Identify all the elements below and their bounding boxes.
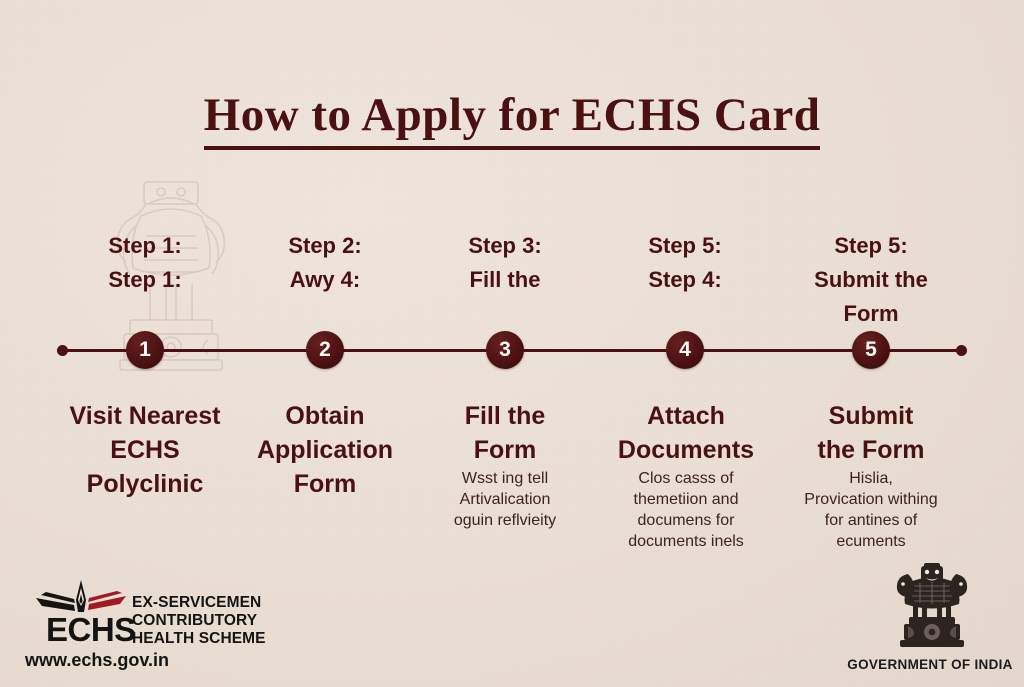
step-block-2: Obtain Application Form xyxy=(235,399,415,502)
page-title-text: How to Apply for ECHS Card xyxy=(204,88,821,150)
timeline-end-dot-right xyxy=(956,345,967,356)
step-pre-text-3: Step 3: Fill the xyxy=(415,229,595,297)
step-pre-label-5: Step 5: Submit the Form xyxy=(781,229,961,331)
step-block-3: Fill the Form Wsst ing tell Artivalicati… xyxy=(415,399,595,531)
echs-logo: ECHS EX-SERVICEMEN CONTRIBUTORY HEALTH S… xyxy=(24,578,284,678)
echs-wordmark: ECHS xyxy=(46,611,136,649)
step-heading-4: Attach Documents xyxy=(596,399,776,467)
timeline-node-2[interactable]: 2 xyxy=(306,331,344,369)
step-heading-1: Visit Nearest ECHS Polyclinic xyxy=(55,399,235,501)
step-body-5: Hislia, Provication withing for antines … xyxy=(781,468,961,552)
step-pre-text-1: Step 1: Step 1: xyxy=(55,229,235,297)
ashoka-emblem-icon xyxy=(884,560,980,652)
step-pre-label-1: Step 1: Step 1: xyxy=(55,229,235,297)
timeline-node-4[interactable]: 4 xyxy=(666,331,704,369)
step-heading-3: Fill the Form xyxy=(415,399,595,467)
step-body-3: Wsst ing tell Artivalication oguin reflv… xyxy=(415,468,595,531)
step-pre-label-3: Step 3: Fill the xyxy=(415,229,595,297)
government-of-india-label: GOVERNMENT OF INDIA xyxy=(840,657,1020,672)
timeline-node-5[interactable]: 5 xyxy=(852,331,890,369)
step-pre-label-4: Step 5: Step 4: xyxy=(595,229,775,297)
step-block-5: Submit the Form Hislia, Provication with… xyxy=(781,399,961,552)
step-pre-label-2: Step 2: Awy 4: xyxy=(235,229,415,297)
step-heading-2: Obtain Application Form xyxy=(235,399,415,501)
page-title: How to Apply for ECHS Card xyxy=(0,88,1024,150)
step-pre-text-2: Step 2: Awy 4: xyxy=(235,229,415,297)
step-pre-text-4: Step 5: Step 4: xyxy=(595,229,775,297)
timeline: 1 2 3 4 5 xyxy=(0,340,1024,362)
echs-website-url[interactable]: www.echs.gov.in xyxy=(25,650,169,671)
timeline-node-3[interactable]: 3 xyxy=(486,331,524,369)
timeline-node-1[interactable]: 1 xyxy=(126,331,164,369)
timeline-end-dot-left xyxy=(57,345,68,356)
step-body-4: Clos casss of themetiion and documens fo… xyxy=(596,468,776,552)
step-block-4: Attach Documents Clos casss of themetiio… xyxy=(596,399,776,552)
poster-canvas: How to Apply for ECHS Card Step 1: Step … xyxy=(0,0,1024,687)
echs-tagline: EX-SERVICEMEN CONTRIBUTORY HEALTH SCHEME xyxy=(132,594,266,648)
step-block-1: Visit Nearest ECHS Polyclinic xyxy=(55,399,235,502)
step-heading-5: Submit the Form xyxy=(781,399,961,467)
step-pre-text-5: Step 5: Submit the Form xyxy=(781,229,961,331)
